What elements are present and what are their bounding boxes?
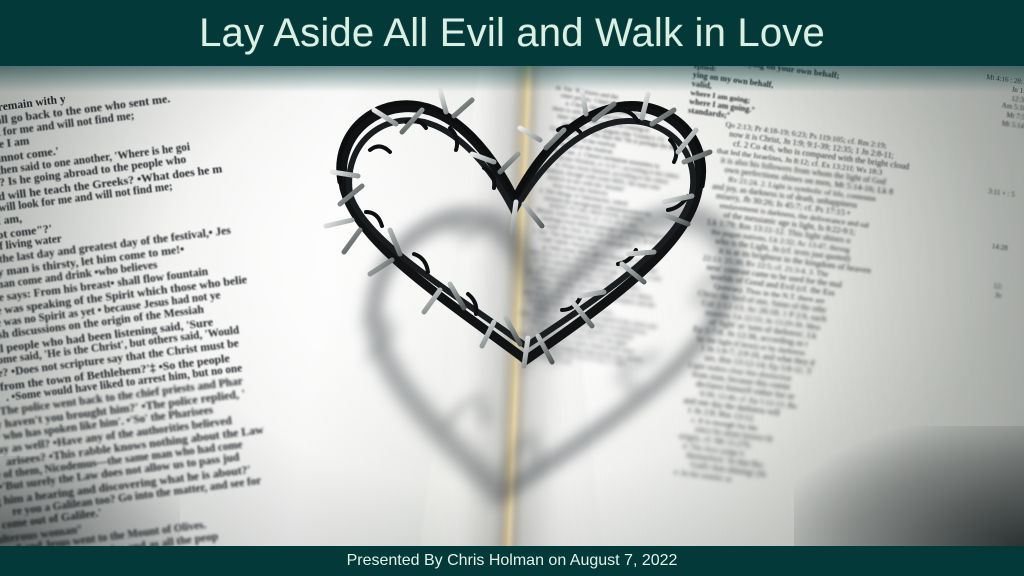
slide-caption: Presented By Chris Holman on August 7, 2… bbox=[347, 553, 678, 569]
slide-background-photo: en Jesus'I shall remain with ythen I sha… bbox=[0, 66, 1024, 546]
margin-reference-line: 14:28 bbox=[888, 229, 1008, 254]
presentation-slide: Lay Aside All Evil and Walk in Love en J… bbox=[0, 0, 1024, 576]
margin-reference-line: 3:11 + : 5 bbox=[895, 175, 1015, 200]
left-page-text-block: en Jesus'I shall remain with ythen I sha… bbox=[0, 66, 420, 546]
slide-caption-bar: Presented By Chris Holman on August 7, 2… bbox=[0, 546, 1024, 576]
slide-title: Lay Aside All Evil and Walk in Love bbox=[199, 13, 825, 53]
slide-title-bar: Lay Aside All Evil and Walk in Love bbox=[0, 0, 1024, 66]
